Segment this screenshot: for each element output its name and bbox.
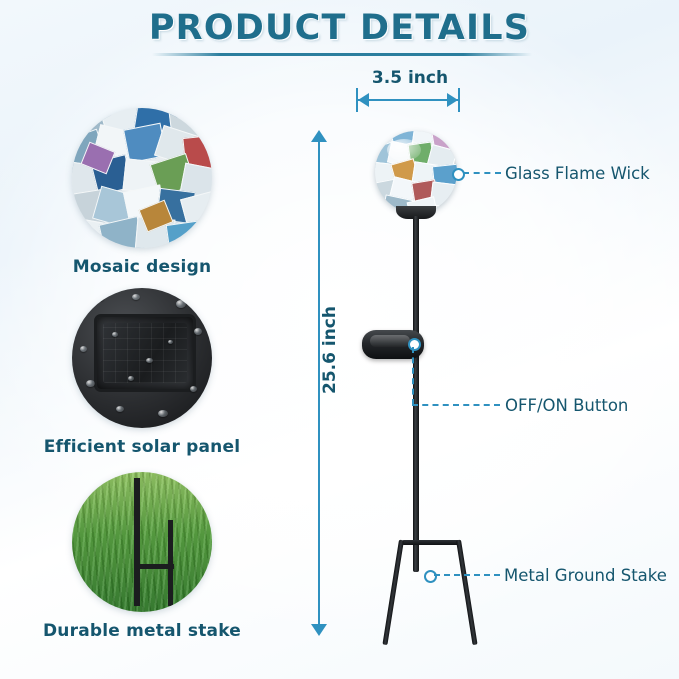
feature-caption: Efficient solar panel xyxy=(42,437,242,457)
callout-leader-off-on-button xyxy=(412,404,500,406)
callout-leader-metal-ground-stake xyxy=(434,574,500,576)
glass-globe xyxy=(375,131,457,213)
globe-highlight xyxy=(387,139,421,161)
mosaic-circle-image xyxy=(72,108,212,248)
page-title-wrap: PRODUCT DETAILS xyxy=(0,8,679,48)
title-underline xyxy=(152,53,532,56)
dimension-arrow-left-icon xyxy=(358,93,369,107)
grass-stake-circle-image xyxy=(72,472,212,612)
callout-label-metal-ground-stake: Metal Ground Stake xyxy=(504,566,667,585)
feature-solar-panel: Efficient solar panel xyxy=(42,288,242,457)
callout-leader-glass-flame-wick xyxy=(463,172,501,174)
callout-leader-vertical-off-on-button xyxy=(412,347,414,405)
feature-mosaic: Mosaic design xyxy=(42,108,242,277)
callout-label-off-on-button: OFF/ON Button xyxy=(505,396,628,415)
dimension-arrow-right-icon xyxy=(447,93,458,107)
width-dimension-line xyxy=(356,99,460,101)
solar-panel-circle-image xyxy=(72,288,212,428)
feature-metal-stake: Durable metal stake xyxy=(42,472,242,641)
height-dimension-label: 25.6 inch xyxy=(320,290,340,410)
feature-caption: Mosaic design xyxy=(42,257,242,277)
width-dimension-label: 3.5 inch xyxy=(350,68,470,88)
stake-crossbar xyxy=(402,540,460,545)
product-details-page: PRODUCT DETAILS xyxy=(0,0,679,679)
callout-label-glass-flame-wick: Glass Flame Wick xyxy=(505,164,650,183)
solar-cell xyxy=(94,314,196,392)
ground-stake xyxy=(382,540,404,645)
ground-stake-second-leg xyxy=(456,540,478,645)
callout-dot-off-on-button xyxy=(408,338,421,351)
page-title: PRODUCT DETAILS xyxy=(149,8,530,48)
dimension-arrow-down-icon xyxy=(311,624,327,636)
callout-dot-glass-flame-wick xyxy=(452,168,465,181)
feature-caption: Durable metal stake xyxy=(42,621,242,641)
callout-dot-metal-ground-stake xyxy=(424,570,437,583)
